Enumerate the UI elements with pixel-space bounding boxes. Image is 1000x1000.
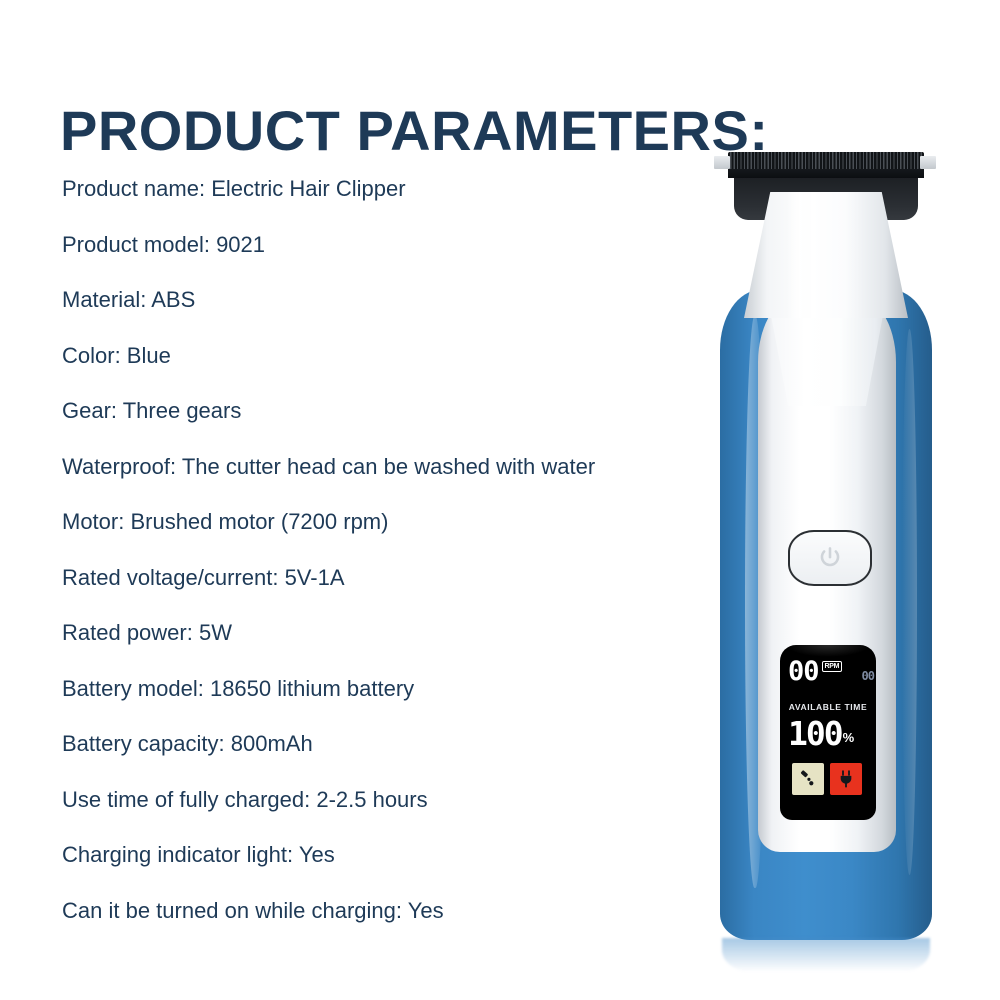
clipper-head	[744, 192, 908, 318]
rpm-value: 00	[788, 659, 819, 685]
spec-line: Battery model: 18650 lithium battery	[62, 678, 742, 703]
rpm-readout: 00 RPM	[788, 659, 868, 685]
specification-list: Product name: Electric Hair Clipper Prod…	[62, 178, 742, 955]
percent-symbol: %	[843, 730, 855, 745]
spec-line: Can it be turned on while charging: Yes	[62, 900, 742, 925]
spec-line: Motor: Brushed motor (7200 rpm)	[62, 511, 742, 536]
spec-line: Color: Blue	[62, 345, 742, 370]
battery-percent-value: 100	[788, 719, 842, 749]
product-image-hair-clipper: 00 RPM 00 AVAILABLE TIME 100 %	[660, 140, 990, 970]
spec-line: Use time of fully charged: 2-2.5 hours	[62, 789, 742, 814]
power-icon	[817, 545, 843, 571]
rpm-unit-label: RPM	[822, 661, 843, 672]
indicator-row	[792, 763, 862, 795]
spec-line: Rated power: 5W	[62, 622, 742, 647]
spec-line: Product model: 9021	[62, 234, 742, 259]
spec-line: Rated voltage/current: 5V-1A	[62, 567, 742, 592]
product-reflection	[722, 938, 930, 972]
secondary-readout: 00	[862, 669, 874, 683]
clipper-blade-teeth	[728, 152, 924, 178]
available-time-label: AVAILABLE TIME	[780, 702, 876, 712]
power-button[interactable]	[788, 530, 872, 586]
spec-line: Material: ABS	[62, 289, 742, 314]
spec-line: Product name: Electric Hair Clipper	[62, 178, 742, 203]
product-parameters-page: PRODUCT PARAMETERS: Product name: Electr…	[0, 0, 1000, 1000]
spec-line: Charging indicator light: Yes	[62, 844, 742, 869]
oil-maintenance-indicator	[792, 763, 824, 795]
spec-line: Battery capacity: 800mAh	[62, 733, 742, 758]
charging-plug-indicator	[830, 763, 862, 795]
oil-drop-icon	[797, 768, 819, 790]
blade-tab-left	[714, 156, 730, 169]
spec-line: Waterproof: The cutter head can be washe…	[62, 456, 742, 481]
battery-percent-readout: 100 %	[788, 719, 868, 749]
blade-tab-right	[920, 156, 936, 169]
spec-line: Gear: Three gears	[62, 400, 742, 425]
led-display-panel: 00 RPM 00 AVAILABLE TIME 100 %	[780, 645, 876, 820]
plug-icon	[836, 769, 856, 789]
